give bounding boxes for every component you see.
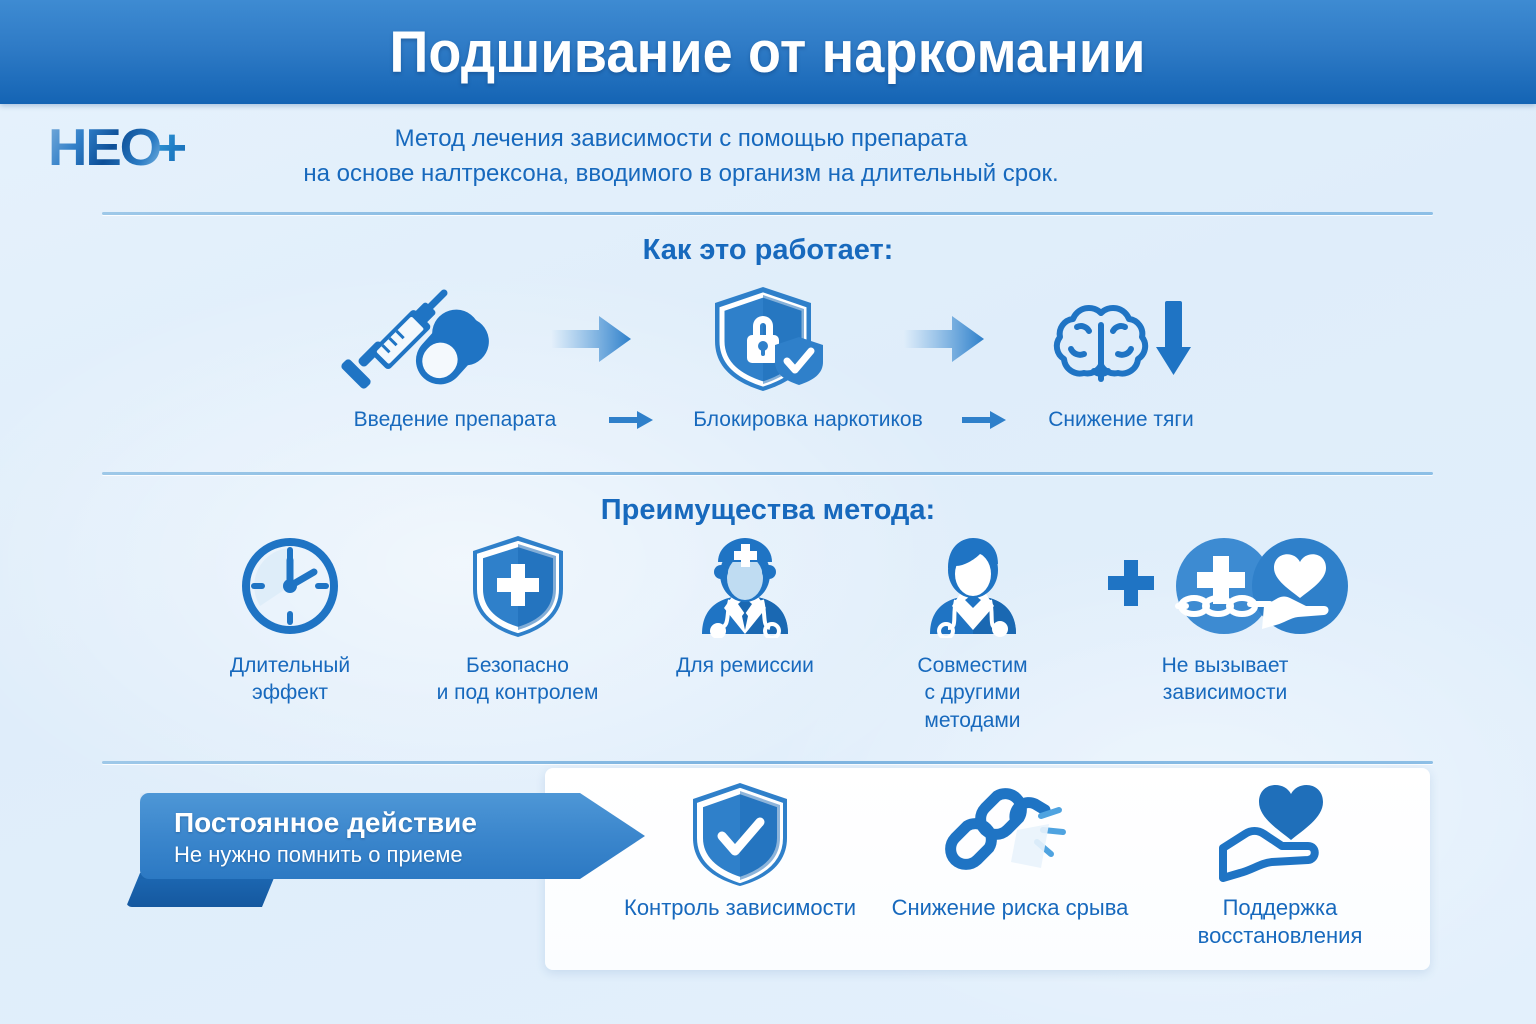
clock-icon [238, 536, 342, 636]
benefit-item-long-effect: Длительный эффект [190, 536, 390, 707]
brain-down-arrow-icon [1036, 283, 1206, 395]
bottom-card-row: Контроль зависимости [615, 782, 1405, 957]
benefits-title: Преимущества метода: [0, 494, 1536, 527]
benefit-label-3: Для ремиссии [676, 652, 814, 679]
bottom-item-support: Поддержка восстановления [1155, 782, 1405, 949]
how-it-works-flow: Введение препарата Блокировка наркотиков… [330, 284, 1206, 454]
bottom-item-control: Контроль зависимости [615, 782, 865, 922]
arrow-right-icon [602, 410, 662, 430]
divider-middle [102, 472, 1433, 475]
logo-text: НЕО [48, 118, 160, 178]
ribbon-banner: Постоянное действие Не нужно помнить о п… [140, 793, 645, 887]
benefit-item-compatible: Совместим с другими методами [873, 536, 1073, 734]
flow-label-row: Введение препарата Блокировка наркотиков… [330, 408, 1206, 432]
bottom-item-relapse: Снижение риска срыва [885, 782, 1135, 922]
doctor-nurse-icon [690, 536, 800, 636]
shield-check-icon [688, 782, 792, 886]
subtitle-line-1: Метод лечения зависимости с помощью преп… [395, 125, 968, 152]
benefit-label-4: Совместим с другими методами [917, 652, 1027, 734]
benefit-item-remission: Для ремиссии [645, 536, 845, 679]
benefit-label-5: Не вызывает зависимости [1162, 652, 1289, 707]
how-it-works-title: Как это работает: [0, 234, 1536, 267]
arrow-right-icon [547, 314, 637, 364]
arrow-right-icon [900, 314, 990, 364]
syringe-pill-icon [330, 285, 500, 393]
benefit-label-2: Безопасно и под контролем [437, 652, 599, 707]
shield-cross-icon [468, 536, 568, 636]
divider-top [102, 212, 1433, 215]
doctor-stethoscope-icon [918, 536, 1028, 636]
ribbon-text: Постоянное действие Не нужно помнить о п… [174, 807, 574, 870]
divider-bottom [102, 761, 1433, 764]
flow-step-label-1: Введение препарата [330, 408, 580, 432]
flow-icon-row [330, 284, 1206, 394]
chain-heart-hand-icon [1100, 536, 1350, 636]
subtitle: Метод лечения зависимости с помощью преп… [276, 122, 1086, 192]
page-title: Подшивание от наркомании [390, 19, 1146, 86]
flow-step-label-3: Снижение тяги [1036, 408, 1206, 432]
broken-chain-icon [945, 782, 1075, 886]
flow-step-label-2: Блокировка наркотиков [683, 408, 933, 432]
benefit-item-safe: Безопасно и под контролем [418, 536, 618, 707]
benefit-label-1: Длительный эффект [190, 652, 390, 707]
header-banner: Подшивание от наркомании [0, 0, 1536, 104]
brand-logo: НЕО + [48, 118, 248, 178]
subtitle-line-2: на основе налтрексона, вводимого в орган… [276, 157, 1086, 192]
benefit-item-no-addiction: Не вызывает зависимости [1100, 536, 1350, 707]
benefits-row: Длительный эффект Безопасно и под контро… [190, 536, 1350, 741]
logo-plus-icon: + [157, 118, 187, 178]
heart-hand-icon [1217, 782, 1343, 886]
bottom-label-3: Поддержка восстановления [1198, 894, 1363, 949]
ribbon-title: Постоянное действие [174, 807, 574, 839]
shield-lock-icon [683, 283, 853, 395]
bottom-label-1: Контроль зависимости [624, 894, 856, 922]
bottom-card: Контроль зависимости [545, 768, 1430, 970]
arrow-right-icon [955, 410, 1015, 430]
bottom-label-2: Снижение риска срыва [892, 894, 1129, 922]
ribbon-subtitle: Не нужно помнить о приеме [174, 841, 574, 870]
infographic-poster: Подшивание от наркомании НЕО + Метод леч… [0, 0, 1536, 1024]
